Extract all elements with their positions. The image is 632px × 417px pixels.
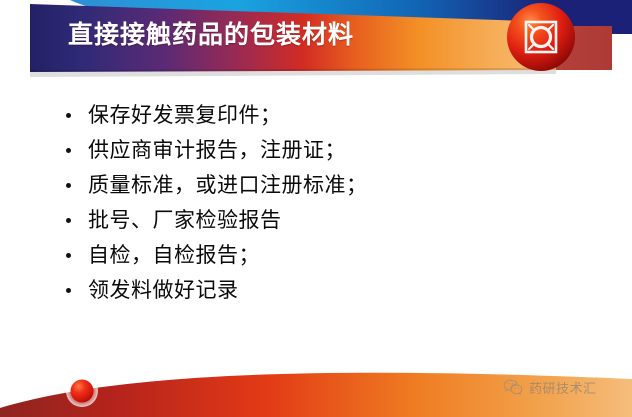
watermark-label: 药研技术汇: [529, 378, 597, 397]
title-emblem-sphere: [507, 3, 575, 71]
list-item-label: 质量标准，或进口注册标准；: [88, 168, 368, 203]
aperture-square-icon: [526, 22, 556, 52]
bullet-dot-icon: [66, 218, 71, 223]
list-item: 保存好发票复印件；: [60, 98, 580, 133]
banner-right-tail: [500, 26, 612, 70]
list-item-label: 自检，自检报告；: [88, 238, 260, 273]
list-item-label: 批号、厂家检验报告: [88, 203, 282, 238]
bullet-list: 保存好发票复印件； 供应商审计报告，注册证； 质量标准，或进口注册标准； 批号、…: [60, 98, 580, 308]
bullet-dot-icon: [66, 288, 71, 293]
bullet-dot-icon: [66, 113, 71, 118]
slide-title: 直接接触药品的包装材料: [68, 18, 508, 52]
list-item: 质量标准，或进口注册标准；: [60, 168, 580, 203]
bullet-dot-icon: [66, 183, 71, 188]
footer-sphere-glow: [66, 375, 98, 407]
list-item: 批号、厂家检验报告: [60, 203, 580, 238]
bullet-dot-icon: [66, 148, 71, 153]
list-item-label: 保存好发票复印件；: [88, 98, 282, 133]
watermark: 药研技术汇: [503, 376, 597, 398]
banner-shadow: [30, 68, 556, 77]
footer-sphere: [71, 380, 94, 403]
list-item: 自检，自检报告；: [60, 238, 580, 273]
list-item-label: 供应商审计报告，注册证；: [88, 133, 346, 168]
list-item: 供应商审计报告，注册证；: [60, 133, 580, 168]
bullet-dot-icon: [66, 253, 71, 258]
slide-canvas: 直接接触药品的包装材料 保存好发票复印件； 供应商审计报告，注册证； 质量标准，…: [0, 0, 632, 417]
list-item: 领发料做好记录: [60, 273, 580, 308]
wechat-icon: [503, 379, 523, 396]
list-item-label: 领发料做好记录: [88, 273, 239, 308]
